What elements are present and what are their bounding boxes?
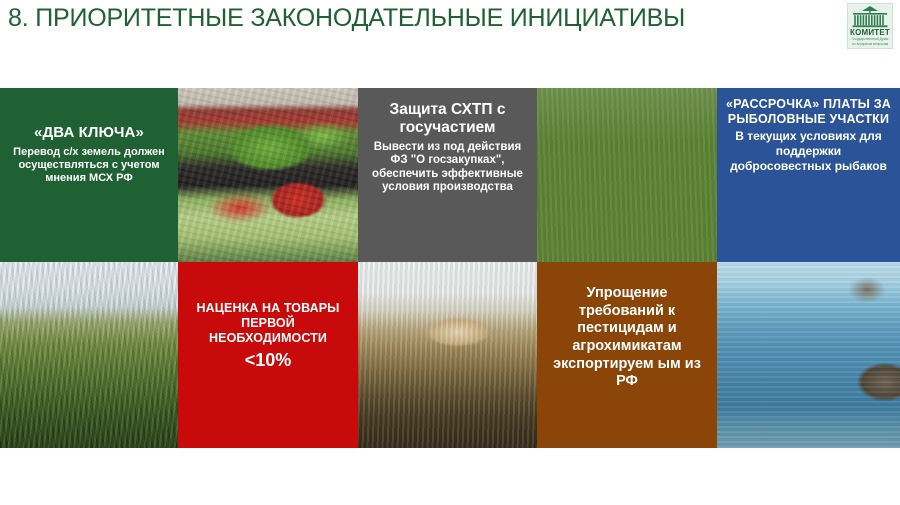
card-body: Вывести из под действия ФЗ "О госзакупка…: [365, 141, 530, 195]
card-body: Перевод с/х земель должен осуществляться…: [7, 146, 171, 185]
card-title: «РАССРОЧКА» ПЛАТЫ ЗА РЫБОЛОВНЫЕ УЧАСТКИ: [724, 97, 893, 127]
card-title: Защита СХТП с госучастием: [365, 101, 530, 138]
card-content: «РАССРОЧКА» ПЛАТЫ ЗА РЫБОЛОВНЫЕ УЧАСТКИ …: [717, 88, 900, 174]
photo-vegetable-market: [178, 88, 358, 262]
card-content: НАЦЕНКА НА ТОВАРЫ ПЕРВОЙ НЕОБХОДИМОСТИ <…: [178, 262, 358, 371]
initiatives-grid: «ДВА КЛЮЧА» Перевод с/х земель должен ос…: [0, 88, 900, 448]
initiative-card-two-keys[interactable]: «ДВА КЛЮЧА» Перевод с/х земель должен ос…: [0, 88, 178, 262]
committee-logo-subtitle-1: Государственной Думы: [848, 37, 892, 41]
photo-harvester-in-field: [358, 262, 537, 448]
slide: 8. ПРИОРИТЕТНЫЕ ЗАКОНОДАТЕЛЬНЫЕ ИНИЦИАТИ…: [0, 0, 900, 505]
card-body: НАЦЕНКА НА ТОВАРЫ ПЕРВОЙ НЕОБХОДИМОСТИ: [185, 301, 351, 345]
photo-coastal-bay: [717, 262, 900, 448]
committee-logo: КОМИТЕТ Государственной Думы по аграрным…: [847, 3, 893, 49]
slide-header: 8. ПРИОРИТЕТНЫЕ ЗАКОНОДАТЕЛЬНЫЕ ИНИЦИАТИ…: [0, 0, 900, 60]
committee-logo-subtitle-2: по аграрным вопросам: [848, 42, 892, 46]
card-content: Упрощение требований к пестицидам и агро…: [537, 262, 717, 391]
committee-logo-word: КОМИТЕТ: [848, 28, 892, 37]
photo-green-wheat-field: [0, 262, 178, 448]
initiative-card-pesticides[interactable]: Упрощение требований к пестицидам и агро…: [537, 262, 717, 448]
card-content: «ДВА КЛЮЧА» Перевод с/х земель должен ос…: [0, 88, 178, 185]
initiative-card-protection[interactable]: Защита СХТП с госучастием Вывести из под…: [358, 88, 537, 262]
government-building-icon: [851, 6, 889, 28]
card-body: Упрощение требований к пестицидам и агро…: [544, 285, 710, 391]
page-title: 8. ПРИОРИТЕТНЫЕ ЗАКОНОДАТЕЛЬНЫЕ ИНИЦИАТИ…: [8, 4, 685, 33]
card-content: Защита СХТП с госучастием Вывести из под…: [358, 88, 537, 195]
photo-tractor-spraying: [537, 88, 717, 262]
card-figure: <10%: [185, 350, 351, 371]
card-title: «ДВА КЛЮЧА»: [7, 124, 171, 142]
initiative-card-markup[interactable]: НАЦЕНКА НА ТОВАРЫ ПЕРВОЙ НЕОБХОДИМОСТИ <…: [178, 262, 358, 448]
initiative-card-installment[interactable]: «РАССРОЧКА» ПЛАТЫ ЗА РЫБОЛОВНЫЕ УЧАСТКИ …: [717, 88, 900, 262]
card-body: В текущих условиях для поддержки добросо…: [724, 129, 893, 174]
